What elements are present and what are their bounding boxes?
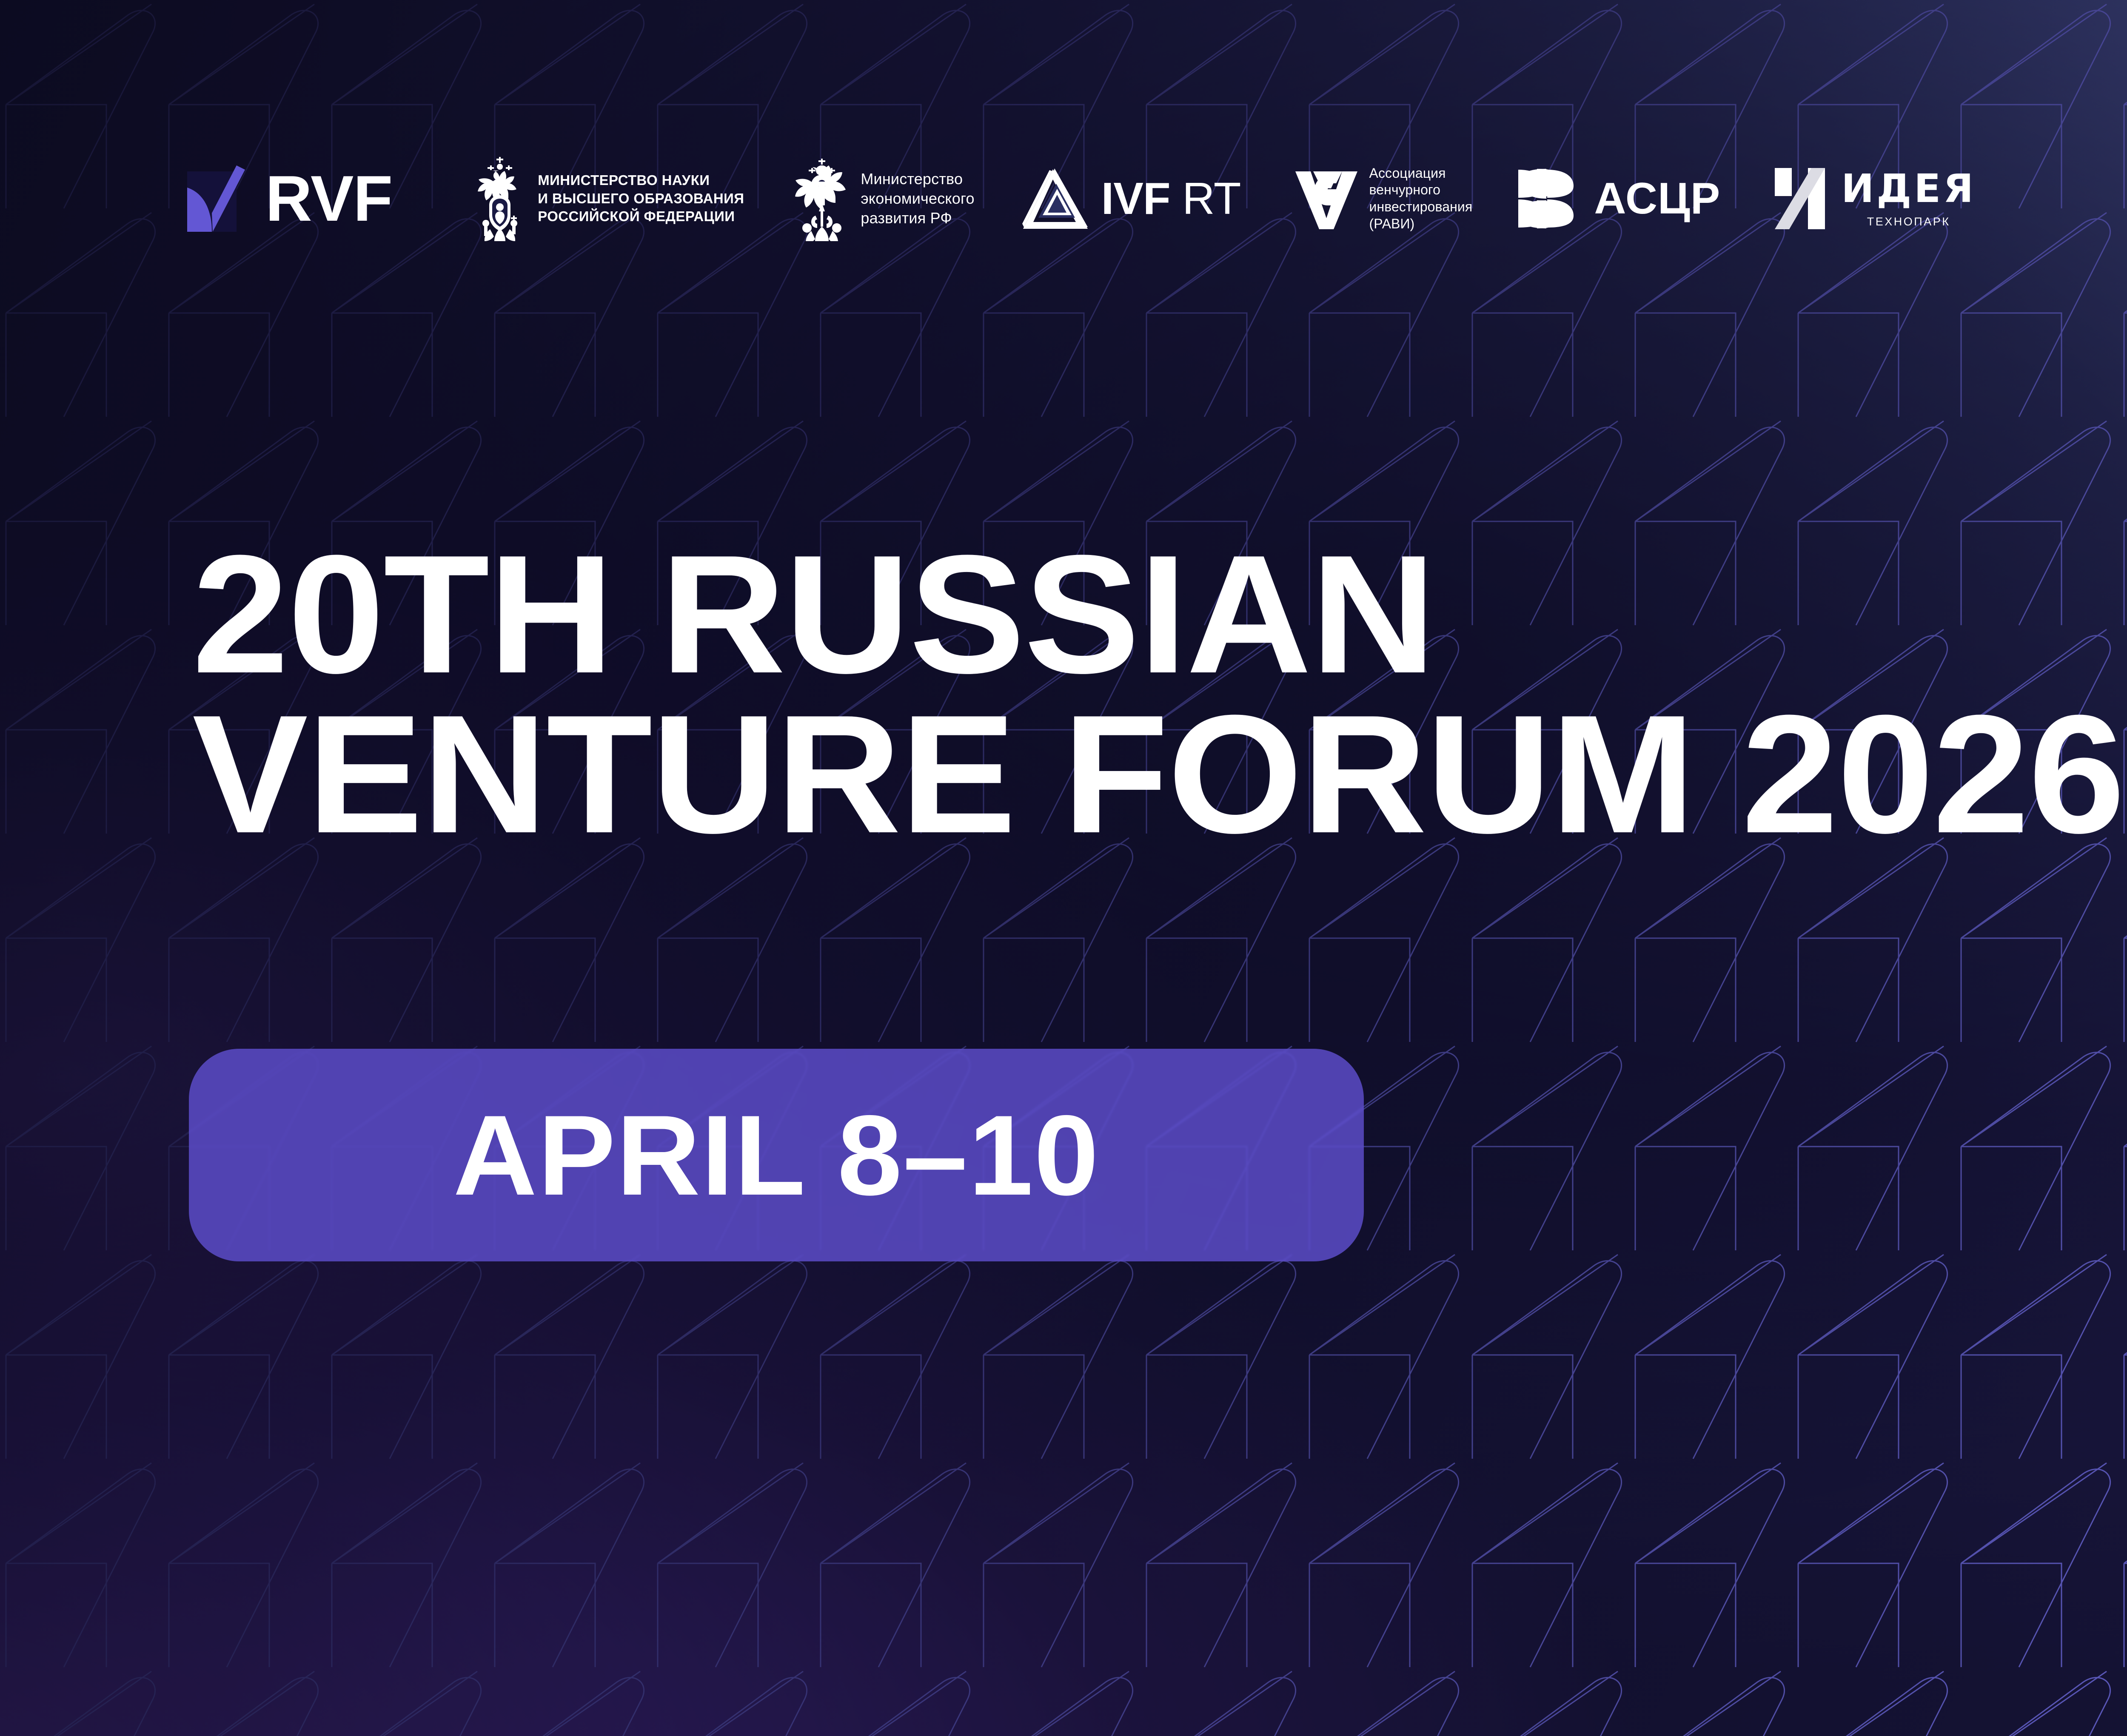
rt-light-word: RT xyxy=(1182,174,1240,224)
minek-line-2: экономического xyxy=(861,189,974,208)
event-headline: 20TH RUSSIAN VENTURE FORUM 2026 xyxy=(192,374,2124,1014)
russian-federation-eagle-emblem-icon xyxy=(473,156,527,241)
ascr-wordmark: АСЦР xyxy=(1594,176,1720,221)
ideya-i-mark-icon xyxy=(1772,168,1827,229)
ideya-wordmark: ИДЕЯ xyxy=(1841,169,1976,208)
ideya-text-block: ИДЕЯ ТЕХНОПАРК xyxy=(1841,169,1976,228)
minobrnauki-line-3: РОССИЙСКОЙ ФЕДЕРАЦИИ xyxy=(538,208,744,226)
ivf-rt-wordmark: IVF RT xyxy=(1101,176,1241,221)
logo-ivf-rt[interactable]: IVF RT xyxy=(1021,150,1241,248)
minobrnauki-line-2: И ВЫСШЕГО ОБРАЗОВАНИЯ xyxy=(538,190,744,208)
logo-ascr[interactable]: АСЦР xyxy=(1517,150,1720,248)
ivf-bold-word: IVF xyxy=(1101,174,1170,224)
headline-line-2: VENTURE FORUM 2026 xyxy=(192,694,2124,854)
minobrnauki-line-1: МИНИСТЕРСТВО НАУКИ xyxy=(538,171,744,190)
russian-federation-eagle-emblem-icon xyxy=(794,156,850,241)
minek-name: Министерство экономического развития РФ xyxy=(861,169,974,228)
ideya-subtitle: ТЕХНОПАРК xyxy=(1867,215,1950,228)
ravi-name: Ассоциация венчурного инвестирования (РА… xyxy=(1369,165,1473,233)
partner-logo-row: RVF xyxy=(187,150,1976,248)
logo-minekonomrazvitiya[interactable]: Министерство экономического развития РФ xyxy=(794,150,974,248)
event-poster: RVF xyxy=(0,0,2127,1736)
logo-rvf[interactable]: RVF xyxy=(187,150,392,248)
four-petal-flower-icon xyxy=(1517,166,1580,231)
ravi-line-1: Ассоциация xyxy=(1369,165,1473,182)
logo-ravi[interactable]: Ассоциация венчурного инвестирования (РА… xyxy=(1294,150,1473,248)
ravi-line-3: инвестирования xyxy=(1369,199,1473,216)
minobrnauki-name: МИНИСТЕРСТВО НАУКИ И ВЫСШЕГО ОБРАЗОВАНИЯ… xyxy=(538,171,744,226)
vg-monogram-icon xyxy=(1294,165,1358,233)
rvf-logo-mark xyxy=(187,165,248,232)
penrose-triangle-icon xyxy=(1021,167,1089,231)
rvf-wordmark: RVF xyxy=(265,166,392,231)
event-date-badge[interactable]: APRIL 8–10 xyxy=(189,1049,1364,1261)
event-date-label: APRIL 8–10 xyxy=(453,1098,1100,1212)
minek-line-1: Министерство xyxy=(861,169,974,189)
logo-minobrnauki[interactable]: МИНИСТЕРСТВО НАУКИ И ВЫСШЕГО ОБРАЗОВАНИЯ… xyxy=(473,150,744,248)
ravi-line-2: венчурного xyxy=(1369,182,1473,199)
logo-ideya[interactable]: ИДЕЯ ТЕХНОПАРК xyxy=(1772,150,1976,248)
ravi-line-4: (РАВИ) xyxy=(1369,216,1473,233)
minek-line-3: развития РФ xyxy=(861,208,974,228)
